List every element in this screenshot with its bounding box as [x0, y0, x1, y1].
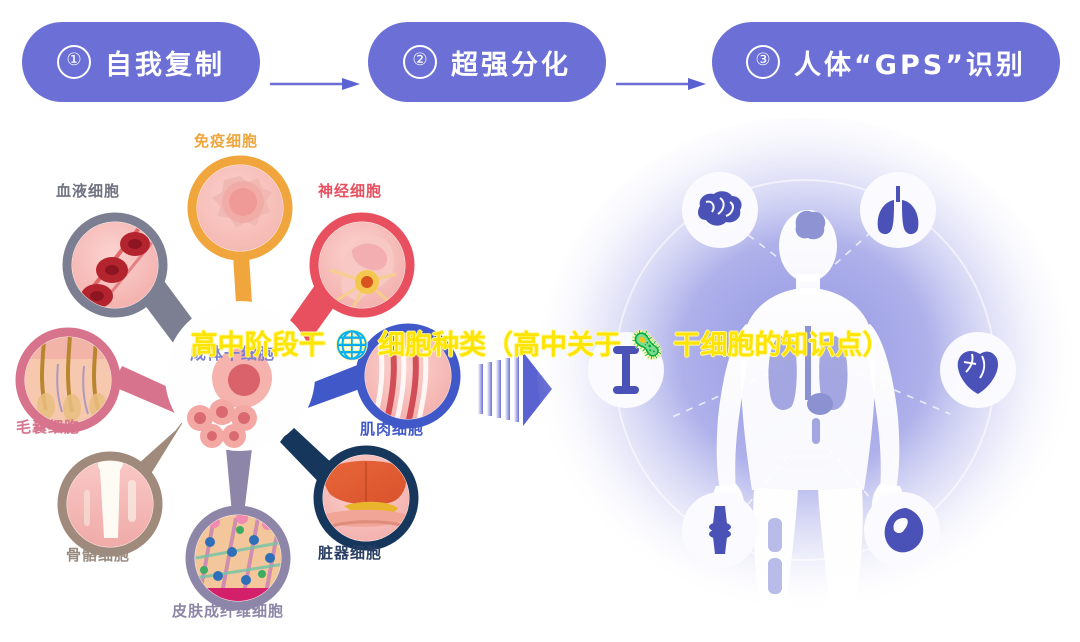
organ-icon-spine-bone	[588, 332, 664, 408]
inbody-brain	[796, 211, 826, 240]
organ-icon-lungs	[860, 172, 936, 248]
stem-cell-network-diagram: 血液细胞 免疫细胞 神经细胞 毛囊细胞 肌肉细胞 骨骼细胞 皮肤成纤维细胞 脏器…	[0, 118, 500, 642]
step-label-3: 人体“GPS”识别	[794, 43, 1026, 82]
organ-icon-heart	[940, 332, 1016, 408]
organ-icon-knee-joint	[682, 492, 758, 568]
step-label-2: 超强分化	[451, 43, 571, 82]
label-muscle-cells: 肌肉细胞	[360, 418, 424, 439]
node-muscle-cells	[360, 328, 457, 425]
inbody-trachea	[805, 326, 811, 400]
hub-node-adult-stem-cell	[166, 302, 314, 450]
inbody-heart	[807, 393, 833, 415]
node-neural-cells	[314, 217, 411, 314]
process-steps-header: ① 自我复制 ② 超强分化 ③ 人体“GPS”识别	[0, 22, 1080, 106]
node-organ-cells	[318, 450, 415, 547]
node-immune-cells	[192, 160, 289, 257]
inbody-knee-lower	[768, 558, 782, 594]
step-number-2: ②	[403, 45, 437, 79]
step-pill-2[interactable]: ② 超强分化	[368, 22, 606, 102]
step-number-1: ①	[57, 45, 91, 79]
label-neural-cells: 神经细胞	[318, 180, 382, 201]
inbody-knee-upper	[768, 518, 782, 552]
header-arrow-2-icon	[614, 78, 706, 90]
label-immune-cells: 免疫细胞	[194, 130, 258, 151]
step-pill-3[interactable]: ③ 人体“GPS”识别	[712, 22, 1060, 102]
organ-icon-brain	[682, 172, 758, 248]
label-organ-cells: 脏器细胞	[318, 542, 382, 563]
human-body-gps-diagram	[530, 118, 1080, 642]
infographic-canvas: ① 自我复制 ② 超强分化 ③ 人体“GPS”识别	[0, 0, 1080, 642]
step-label-1: 自我复制	[105, 43, 225, 82]
label-skin-fibroblast: 皮肤成纤维细胞	[172, 600, 284, 621]
node-skin-fibroblast-cells	[190, 510, 287, 607]
step-number-3: ③	[746, 45, 780, 79]
node-hair-follicle-cells	[20, 332, 117, 429]
label-hub-adult-stem-cell: 成体干细胞	[190, 340, 275, 364]
inbody-spine-seg	[812, 418, 820, 444]
label-bone-cells: 骨骼细胞	[66, 544, 130, 565]
organ-icon-kidney	[864, 492, 940, 568]
label-hair-follicle: 毛囊细胞	[16, 416, 80, 437]
inbody-lung-left	[768, 336, 796, 410]
header-arrow-1-icon	[268, 78, 360, 90]
node-bone-cells	[62, 456, 159, 553]
label-blood-cells: 血液细胞	[56, 180, 120, 201]
step-pill-1[interactable]: ① 自我复制	[22, 22, 260, 102]
